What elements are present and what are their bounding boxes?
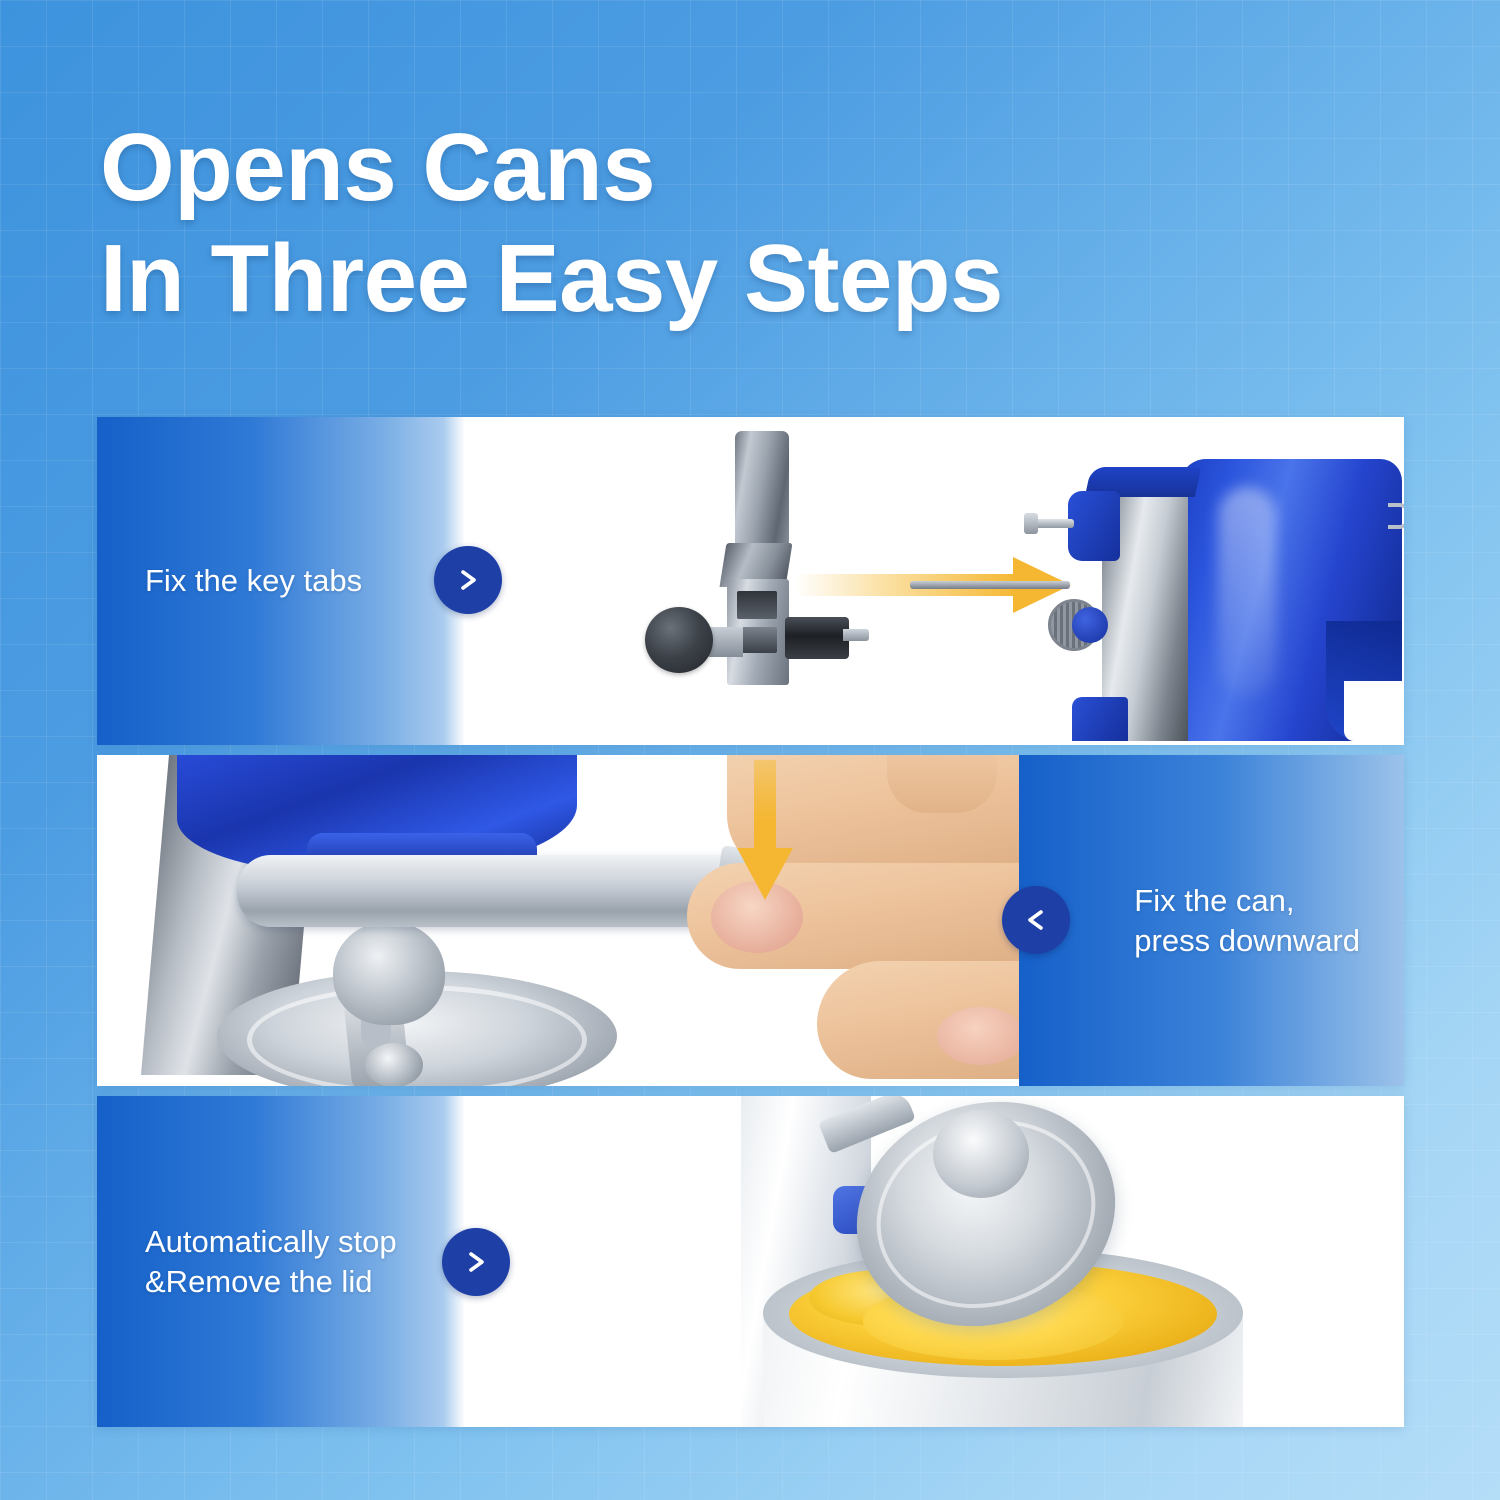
opener-pin: [1032, 519, 1074, 528]
step-1-caption: Fix the key tabs: [145, 561, 362, 600]
key-tab-assembly-image: [645, 431, 875, 681]
opener-notch-cutout: [1344, 681, 1402, 741]
opener-pin-cap: [1024, 513, 1038, 534]
step-2-caption-block: Fix the can, press downward: [1019, 755, 1404, 1086]
can-lid-rivet: [365, 1043, 423, 1086]
opener-side-cap: [1068, 491, 1120, 561]
opener-body-highlight: [1218, 487, 1276, 697]
step-3-caption-block: Automatically stop &Remove the lid: [97, 1096, 465, 1427]
page-title: Opens Cans In Three Easy Steps: [100, 112, 1430, 335]
step-1-photo: [465, 417, 1404, 745]
hand-knuckle: [887, 755, 997, 813]
step-panel-3: Automatically stop &Remove the lid: [97, 1096, 1404, 1427]
opener-rod: [910, 581, 1070, 589]
key-tab-inner-part-upper: [737, 591, 777, 619]
step-3-caption: Automatically stop &Remove the lid: [145, 1222, 397, 1300]
arrow-head: [737, 848, 793, 900]
chevron-left-icon[interactable]: [1002, 886, 1070, 954]
removed-lid-hub: [933, 1110, 1029, 1198]
key-tab-inner-part-lower: [739, 627, 777, 653]
step-panel-2: Fix the can, press downward: [97, 755, 1404, 1086]
thumbnail: [937, 1007, 1025, 1065]
key-tab-plug-pin: [843, 629, 869, 641]
opener-wire-clip: [1388, 503, 1404, 529]
key-tab-magnet-disc: [645, 607, 713, 673]
can-opener-device-image: [1030, 441, 1404, 745]
opener-knob-hub: [1072, 607, 1108, 643]
step-3-photo: [463, 1096, 1404, 1427]
step-2-caption: Fix the can, press downward: [1134, 881, 1360, 959]
chevron-right-icon[interactable]: [442, 1228, 510, 1296]
opener-foot: [1072, 697, 1128, 741]
arrow-shaft: [754, 760, 776, 855]
key-tab-lever: [735, 431, 789, 553]
step-panel-1: Fix the key tabs: [97, 417, 1404, 745]
step-2-photo: [97, 755, 1119, 1086]
opener-cutting-gear: [333, 921, 445, 1025]
key-tab-black-plug: [785, 617, 849, 659]
step-1-caption-block: Fix the key tabs: [97, 417, 465, 745]
chevron-right-icon[interactable]: [434, 546, 502, 614]
arrow-down-icon: [737, 760, 793, 902]
